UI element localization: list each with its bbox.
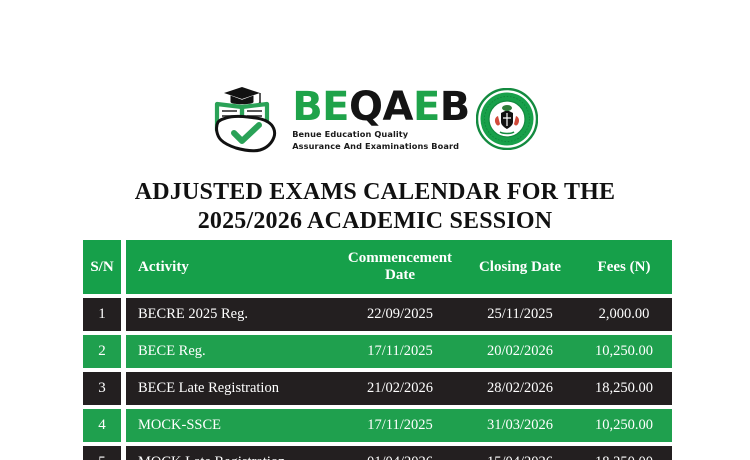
page-title-line-2: 2025/2026 ACADEMIC SESSION bbox=[0, 207, 750, 236]
logo-band: BEQAEB Benue Education Quality Assurance… bbox=[0, 78, 750, 160]
cell-sn: 2 bbox=[83, 335, 121, 368]
table-row: 1 BECRE 2025 Reg. 22/09/2025 25/11/2025 … bbox=[83, 298, 672, 331]
page-title: ADJUSTED EXAMS CALENDAR FOR THE 2025/202… bbox=[0, 178, 750, 236]
wordmark-part-2: QA bbox=[349, 84, 413, 130]
header-fees: Fees (N) bbox=[576, 240, 672, 294]
cell-closing-date: 31/03/2026 bbox=[464, 409, 576, 442]
cell-closing-date: 25/11/2025 bbox=[464, 298, 576, 331]
cell-fees: 10,250.00 bbox=[576, 409, 672, 442]
wordmark-subtitle-line-1: Benue Education Quality bbox=[292, 129, 470, 139]
cell-sn: 4 bbox=[83, 409, 121, 442]
wordmark-part-4: B bbox=[440, 84, 470, 130]
table-row: 2 BECE Reg. 17/11/2025 20/02/2026 10,250… bbox=[83, 335, 672, 368]
header-sn: S/N bbox=[83, 240, 121, 294]
wordmark-letters: BEQAEB bbox=[292, 87, 470, 127]
cell-activity: BECE Reg. bbox=[126, 335, 336, 368]
benue-state-seal-icon bbox=[476, 88, 538, 150]
cell-fees: 18,250.00 bbox=[576, 372, 672, 405]
table-row: 3 BECE Late Registration 21/02/2026 28/0… bbox=[83, 372, 672, 405]
graduation-cap-icon bbox=[224, 87, 262, 106]
cell-sn: 5 bbox=[83, 446, 121, 460]
exam-calendar-table: S/N Activity Commencement Date Closing D… bbox=[83, 240, 672, 460]
wordmark-subtitle-line-2: Assurance And Examinations Board bbox=[292, 141, 470, 151]
cell-activity: MOCK-SSCE bbox=[126, 409, 336, 442]
cell-fees: 10,250.00 bbox=[576, 335, 672, 368]
header-commencement-date: Commencement Date bbox=[336, 240, 464, 294]
cell-fees: 18,250.00 bbox=[576, 446, 672, 460]
cell-commencement-date: 21/02/2026 bbox=[336, 372, 464, 405]
cell-activity: BECE Late Registration bbox=[126, 372, 336, 405]
cell-commencement-date: 17/11/2025 bbox=[336, 335, 464, 368]
cell-activity: MOCK Late Registration bbox=[126, 446, 336, 460]
cell-commencement-date: 17/11/2025 bbox=[336, 409, 464, 442]
header-activity: Activity bbox=[126, 240, 336, 294]
beqaeb-emblem-icon bbox=[212, 82, 286, 156]
cell-activity: BECRE 2025 Reg. bbox=[126, 298, 336, 331]
cell-commencement-date: 22/09/2025 bbox=[336, 298, 464, 331]
wordmark-part-1: BE bbox=[292, 84, 349, 130]
benue-map-check-icon bbox=[217, 116, 275, 150]
cell-sn: 1 bbox=[83, 298, 121, 331]
cell-fees: 2,000.00 bbox=[576, 298, 672, 331]
cell-sn: 3 bbox=[83, 372, 121, 405]
page-title-line-1: ADJUSTED EXAMS CALENDAR FOR THE bbox=[135, 179, 615, 205]
cell-closing-date: 20/02/2026 bbox=[464, 335, 576, 368]
wordmark-part-3: E bbox=[413, 84, 440, 130]
exam-calendar-page: BEQAEB Benue Education Quality Assurance… bbox=[0, 0, 750, 460]
cell-closing-date: 15/04/2026 bbox=[464, 446, 576, 460]
table-row: 5 MOCK Late Registration 01/04/2026 15/0… bbox=[83, 446, 672, 460]
header-commencement-line-2: Date bbox=[342, 267, 458, 284]
header-closing-date: Closing Date bbox=[464, 240, 576, 294]
beqaeb-wordmark: BEQAEB Benue Education Quality Assurance… bbox=[292, 87, 470, 151]
header-commencement-line-1: Commencement bbox=[342, 250, 458, 267]
cell-closing-date: 28/02/2026 bbox=[464, 372, 576, 405]
table-header-row: S/N Activity Commencement Date Closing D… bbox=[83, 240, 672, 294]
cell-commencement-date: 01/04/2026 bbox=[336, 446, 464, 460]
table-row: 4 MOCK-SSCE 17/11/2025 31/03/2026 10,250… bbox=[83, 409, 672, 442]
